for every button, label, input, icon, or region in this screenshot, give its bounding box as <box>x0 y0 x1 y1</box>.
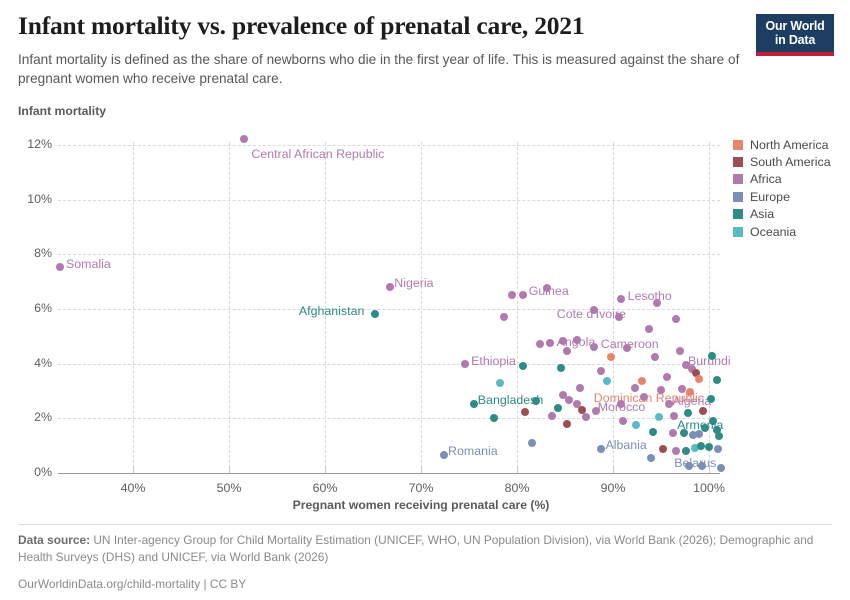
data-point[interactable] <box>543 284 551 292</box>
data-point[interactable] <box>563 420 571 428</box>
data-point-label: Morocco <box>598 401 646 413</box>
data-point[interactable] <box>699 407 707 415</box>
data-point[interactable] <box>528 439 536 447</box>
data-point[interactable] <box>573 336 581 344</box>
data-point[interactable] <box>685 462 693 470</box>
footer-source-text: UN Inter-agency Group for Child Mortalit… <box>18 533 813 564</box>
data-point-label: Guinea <box>529 285 569 297</box>
footer-source-line: Data source: UN Inter-agency Group for C… <box>18 532 818 567</box>
data-point-label: Ethiopia <box>471 355 516 367</box>
data-point[interactable] <box>573 400 581 408</box>
data-point[interactable] <box>659 445 667 453</box>
gridline-horizontal <box>58 145 720 146</box>
data-point[interactable] <box>713 376 721 384</box>
x-axis-tick-mark <box>325 466 326 473</box>
data-point[interactable] <box>631 384 639 392</box>
y-axis-tick-label: 10% <box>6 192 52 206</box>
data-point[interactable] <box>691 444 699 452</box>
gridline-horizontal <box>58 254 720 255</box>
data-point[interactable] <box>623 344 631 352</box>
data-point[interactable] <box>559 337 567 345</box>
data-point[interactable] <box>554 404 562 412</box>
data-point-ethiopia[interactable] <box>461 360 469 368</box>
gridline-horizontal <box>58 200 720 201</box>
footer-divider <box>18 524 832 525</box>
x-axis-tick-mark <box>517 466 518 473</box>
data-point[interactable] <box>500 313 508 321</box>
chart-page: Infant mortality vs. prevalence of prena… <box>0 0 850 600</box>
data-point-label: Cote d'Ivoire <box>557 308 626 320</box>
legend-item-label: South America <box>750 155 831 169</box>
gridline-vertical <box>325 142 326 473</box>
data-point[interactable] <box>684 409 692 417</box>
footer-source-label: Data source: <box>18 533 90 547</box>
data-point[interactable] <box>640 393 648 401</box>
y-axis-tick-label: 4% <box>6 356 52 370</box>
x-axis-title: Pregnant women receiving prenatal care (… <box>133 498 709 512</box>
legend-item-south-america[interactable]: South America <box>733 153 831 170</box>
data-point[interactable] <box>692 369 700 377</box>
data-point-guinea[interactable] <box>519 291 527 299</box>
owid-logo-line1: Our World <box>760 19 830 33</box>
x-axis-tick-mark <box>133 466 134 473</box>
data-point-label: Afghanistan <box>299 305 364 317</box>
data-point-burundi[interactable] <box>682 361 690 369</box>
data-point[interactable] <box>496 379 504 387</box>
data-point[interactable] <box>590 306 598 314</box>
data-point-albania[interactable] <box>597 445 605 453</box>
data-point[interactable] <box>655 413 663 421</box>
data-point[interactable] <box>707 395 715 403</box>
data-point[interactable] <box>695 430 703 438</box>
data-point[interactable] <box>649 428 657 436</box>
owid-logo-line2: in Data <box>760 33 830 47</box>
y-axis-tick-label: 2% <box>6 410 52 424</box>
data-point[interactable] <box>578 406 586 414</box>
data-point-label: Burundi <box>688 355 731 367</box>
x-axis-tick-label: 50% <box>199 481 259 495</box>
y-axis-tick-label: 8% <box>6 246 52 260</box>
x-axis-tick-mark <box>613 466 614 473</box>
x-axis-tick-label: 80% <box>487 481 547 495</box>
data-point[interactable] <box>709 417 717 425</box>
y-axis-tick-label: 0% <box>6 465 52 479</box>
data-point-label: Armenia <box>677 419 723 431</box>
legend-item-europe[interactable]: Europe <box>733 188 831 205</box>
data-point[interactable] <box>548 412 556 420</box>
data-point-armenia[interactable] <box>701 424 709 432</box>
owid-logo[interactable]: Our World in Data <box>756 14 834 56</box>
data-point[interactable] <box>669 429 677 437</box>
data-point-bangladesh[interactable] <box>470 400 478 408</box>
x-axis-tick-label: 60% <box>295 481 355 495</box>
data-point[interactable] <box>663 373 671 381</box>
data-point-label: Algeria <box>673 395 712 407</box>
data-point[interactable] <box>657 386 665 394</box>
data-point-label: Cameroon <box>601 338 659 350</box>
data-point[interactable] <box>565 396 573 404</box>
data-point[interactable] <box>557 364 565 372</box>
legend-item-label: Africa <box>750 172 782 186</box>
data-point[interactable] <box>682 447 690 455</box>
data-point[interactable] <box>582 413 590 421</box>
legend-item-north-america[interactable]: North America <box>733 136 831 153</box>
footer-license[interactable]: OurWorldinData.org/child-mortality | CC … <box>18 576 818 593</box>
y-axis-tick-label: 12% <box>6 137 52 151</box>
legend-swatch-icon <box>733 174 743 184</box>
data-point-nigeria[interactable] <box>386 283 394 291</box>
data-point-dominican-republic[interactable] <box>638 377 646 385</box>
data-point[interactable] <box>563 347 571 355</box>
page-title: Infant mortality vs. prevalence of prena… <box>18 12 748 41</box>
legend-item-label: Europe <box>750 190 790 204</box>
data-point[interactable] <box>645 325 653 333</box>
gridline-horizontal <box>58 364 720 365</box>
data-point[interactable] <box>519 362 527 370</box>
data-point[interactable] <box>672 315 680 323</box>
x-axis-tick-label: 70% <box>391 481 451 495</box>
data-point[interactable] <box>713 426 721 434</box>
data-point-label: Dominican Republic <box>594 392 704 404</box>
data-point-belarus[interactable] <box>698 462 706 470</box>
data-point[interactable] <box>688 365 696 373</box>
data-point-label: Central African Republic <box>251 148 384 160</box>
legend-item-africa[interactable]: Africa <box>733 171 831 188</box>
gridline-vertical <box>709 142 710 473</box>
data-point[interactable] <box>576 384 584 392</box>
footer: Data source: UN Inter-agency Group for C… <box>18 532 818 593</box>
chart-header: Infant mortality vs. prevalence of prena… <box>18 12 748 88</box>
data-point[interactable] <box>617 400 625 408</box>
data-point-label: Lesotho <box>628 290 672 302</box>
legend-item-label: Oceania <box>750 225 796 239</box>
y-axis-title: Infant mortality <box>18 104 106 118</box>
data-point[interactable] <box>708 352 716 360</box>
x-axis-tick-mark <box>229 466 230 473</box>
x-axis-tick-mark <box>709 466 710 473</box>
data-point-label: Bangladesh <box>478 394 543 406</box>
legend-item-label: North America <box>750 138 829 152</box>
data-point[interactable] <box>717 464 725 472</box>
x-axis-tick-label: 100% <box>679 481 739 495</box>
x-axis-line <box>58 473 720 474</box>
data-point[interactable] <box>521 408 529 416</box>
data-point-label: Angola <box>557 336 596 348</box>
legend-item-label: Asia <box>750 207 774 221</box>
data-point-afghanistan[interactable] <box>371 310 379 318</box>
legend-swatch-icon <box>733 140 743 150</box>
data-point[interactable] <box>672 447 680 455</box>
data-point[interactable] <box>689 431 697 439</box>
x-axis-tick-label: 40% <box>103 481 163 495</box>
data-point-angola[interactable] <box>546 339 554 347</box>
legend-item-asia[interactable]: Asia <box>733 206 831 223</box>
data-point[interactable] <box>603 377 611 385</box>
data-point-cameroon[interactable] <box>590 343 598 351</box>
chart-subtitle: Infant mortality is defined as the share… <box>18 50 753 89</box>
data-point[interactable] <box>532 397 540 405</box>
data-point-algeria[interactable] <box>665 400 673 408</box>
data-point[interactable] <box>632 421 640 429</box>
gridline-horizontal <box>58 418 720 419</box>
data-point-central-african-republic[interactable] <box>240 135 248 143</box>
data-point[interactable] <box>490 414 498 422</box>
data-point[interactable] <box>619 417 627 425</box>
data-point[interactable] <box>695 375 703 383</box>
data-point-lesotho[interactable] <box>617 295 625 303</box>
data-point-label: Albania <box>605 439 646 451</box>
gridline-vertical <box>421 142 422 473</box>
data-point-label: Romania <box>448 445 498 457</box>
data-point[interactable] <box>715 432 723 440</box>
legend-swatch-icon <box>733 157 743 167</box>
gridline-vertical <box>133 142 134 473</box>
data-point[interactable] <box>597 367 605 375</box>
legend-swatch-icon <box>733 227 743 237</box>
data-point[interactable] <box>559 391 567 399</box>
data-point[interactable] <box>678 385 686 393</box>
data-point[interactable] <box>670 412 678 420</box>
data-point-romania[interactable] <box>440 451 448 459</box>
x-axis-tick-mark <box>421 466 422 473</box>
data-point[interactable] <box>686 388 694 396</box>
data-point[interactable] <box>676 347 684 355</box>
legend-item-oceania[interactable]: Oceania <box>733 223 831 240</box>
y-axis-tick-label: 6% <box>6 301 52 315</box>
data-point[interactable] <box>607 353 615 361</box>
gridline-horizontal <box>58 309 720 310</box>
gridline-vertical <box>517 142 518 473</box>
data-point[interactable] <box>651 353 659 361</box>
x-axis-tick-label: 90% <box>583 481 643 495</box>
data-point-cote-d-ivoire[interactable] <box>615 313 623 321</box>
data-point-label: Nigeria <box>394 277 433 289</box>
legend: North AmericaSouth AmericaAfricaEuropeAs… <box>733 136 831 240</box>
data-point-label: Belarus <box>674 457 716 469</box>
legend-swatch-icon <box>733 209 743 219</box>
data-point[interactable] <box>680 429 688 437</box>
gridline-vertical <box>229 142 230 473</box>
data-point[interactable] <box>508 291 516 299</box>
data-point-somalia[interactable] <box>56 263 64 271</box>
data-point[interactable] <box>714 445 722 453</box>
data-point-label: Somalia <box>66 258 111 270</box>
data-point[interactable] <box>697 442 705 450</box>
data-point[interactable] <box>653 299 661 307</box>
data-point-morocco[interactable] <box>592 407 600 415</box>
data-point[interactable] <box>705 443 713 451</box>
data-point[interactable] <box>647 454 655 462</box>
gridline-vertical <box>613 142 614 473</box>
legend-swatch-icon <box>733 192 743 202</box>
data-point[interactable] <box>536 340 544 348</box>
